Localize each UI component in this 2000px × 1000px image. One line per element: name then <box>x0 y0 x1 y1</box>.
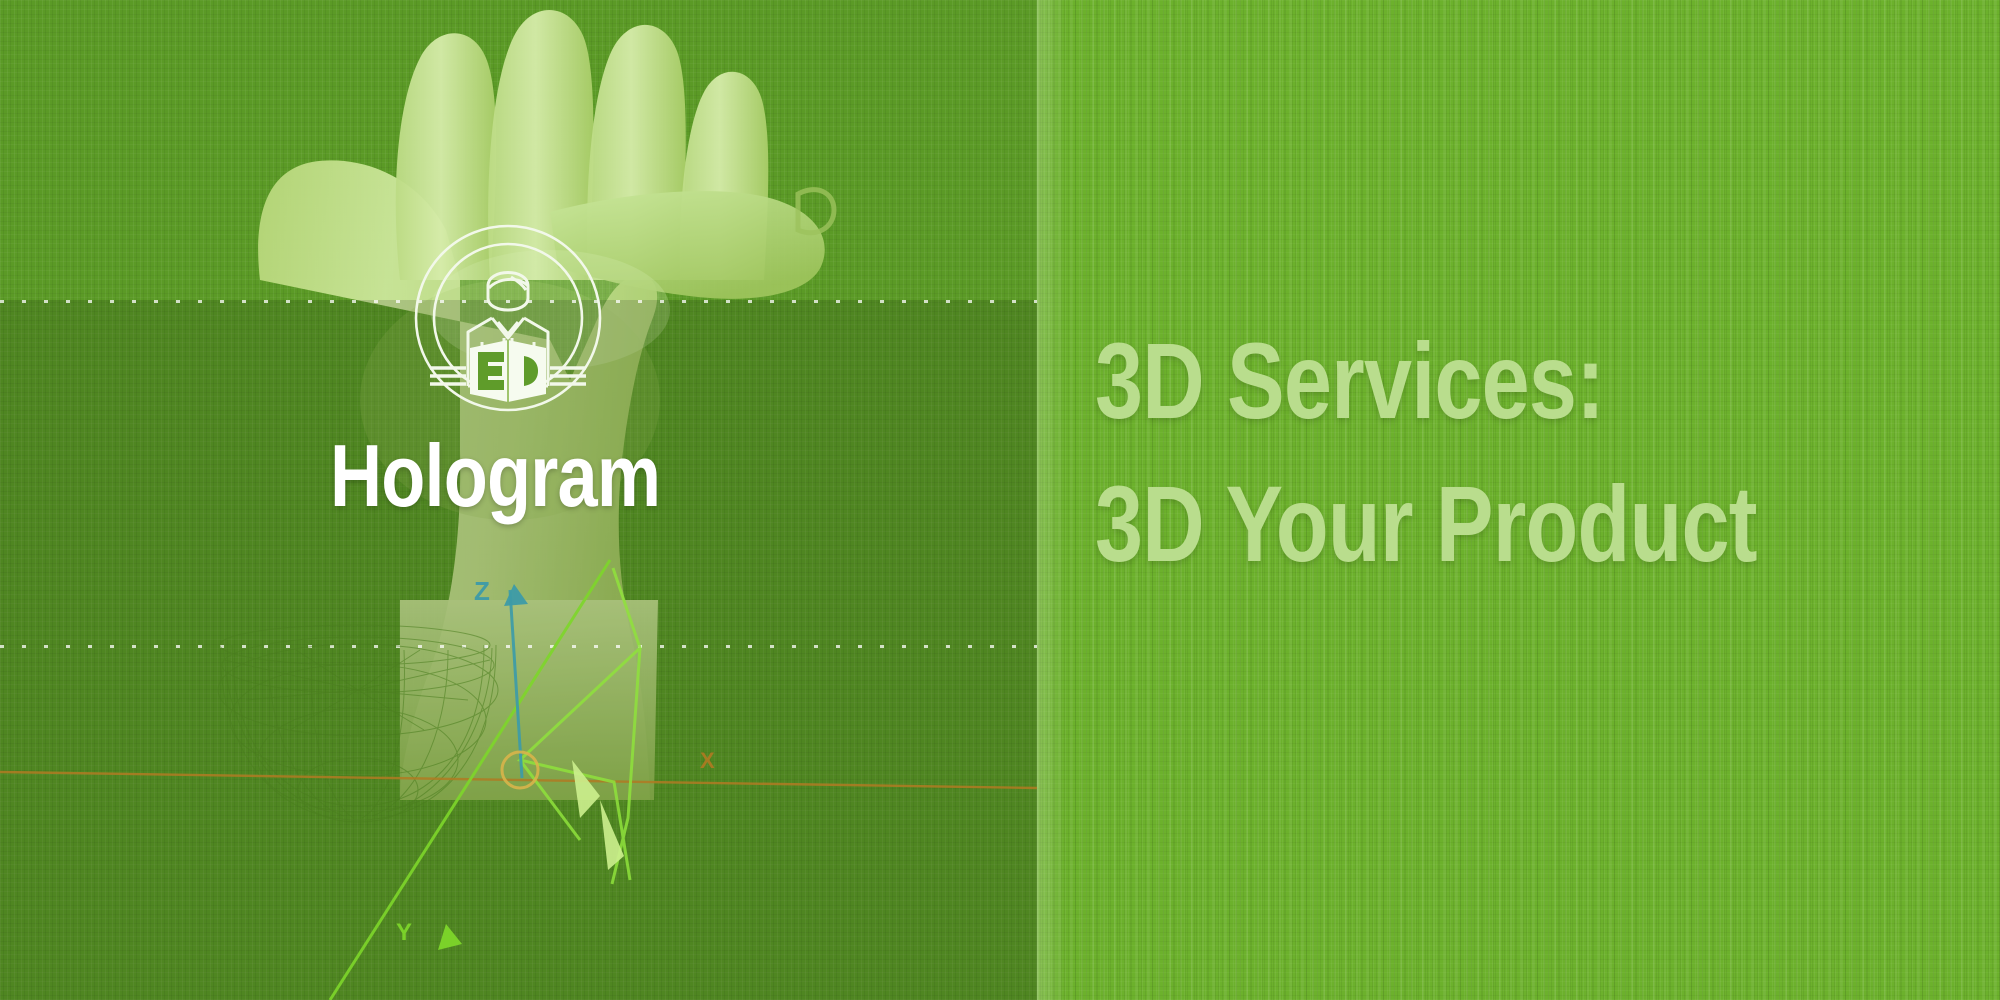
headline-line-1: 3D Services: <box>1095 310 1783 453</box>
headline-block: 3D Services: 3D Your Product <box>1095 310 1955 595</box>
speed-lines-left <box>430 368 466 384</box>
hologram-title: Hologram <box>330 432 674 520</box>
badge-3d-wordmark <box>470 340 546 402</box>
speed-lines-right <box>550 368 586 384</box>
headline-line-2: 3D Your Product <box>1095 453 1783 596</box>
3d-services-badge[interactable] <box>412 222 604 414</box>
banner-root: X Y Z <box>0 0 2000 1000</box>
